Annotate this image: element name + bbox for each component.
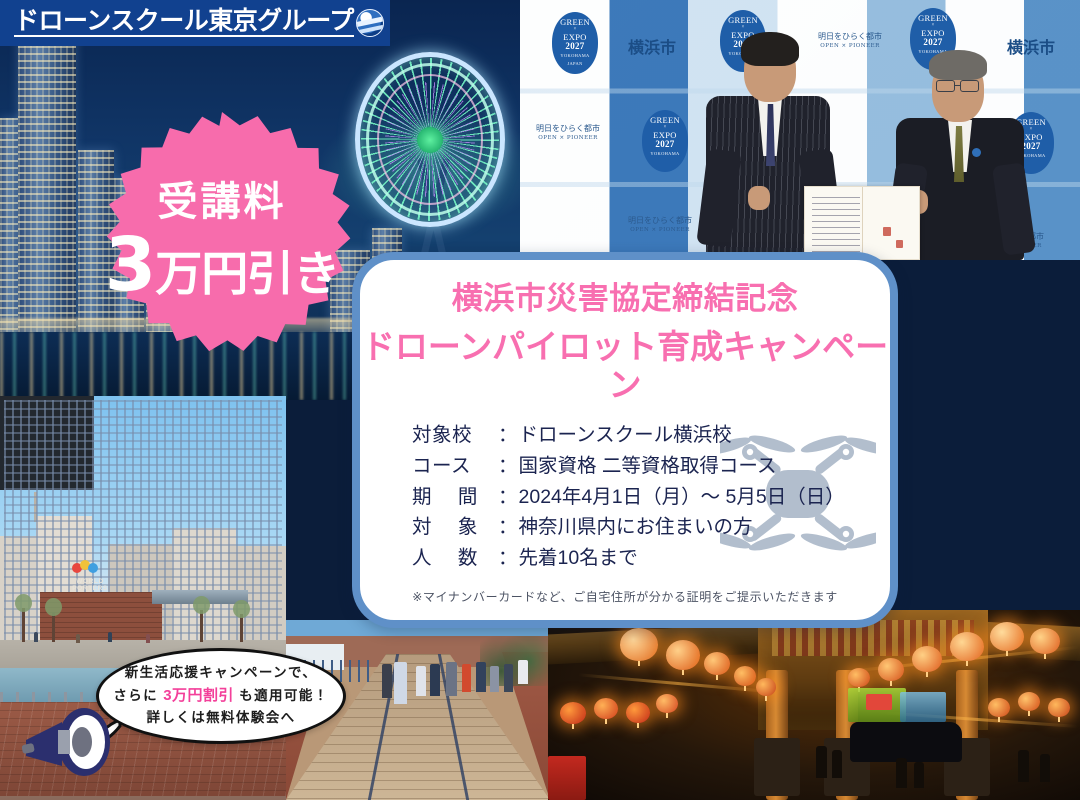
pedestrian	[146, 634, 150, 643]
photo-signing-ceremony: GREEN × EXPO 2027 YOKOHAMA JAPAN GREEN ×…	[520, 0, 1080, 260]
glasses-bridge	[954, 85, 961, 86]
red-banner	[548, 756, 586, 800]
world-porters-logo-icon	[72, 560, 102, 576]
hand	[748, 186, 770, 210]
bubble-discount-highlight: 3万円割引	[163, 687, 234, 704]
badge-content: 受講料 3 万円引き	[88, 112, 356, 370]
large-lantern	[620, 628, 658, 661]
pedestrian	[108, 632, 112, 642]
photo-yokohama-chinatown-night	[548, 610, 1080, 800]
discount-starburst-badge: 受講料 3 万円引き	[88, 112, 356, 370]
lapel-pin	[972, 148, 981, 157]
detail-row-period: 期 間 ： 2024年4月1日（月）～ 5月5日（日）	[412, 482, 890, 513]
pillar-base	[754, 738, 800, 796]
world-porters-glass-facade	[0, 396, 94, 490]
red-lantern	[1048, 698, 1070, 717]
red-seal-stamp	[896, 240, 903, 248]
hair	[741, 32, 799, 66]
backdrop-tagline: 明日をひらく都市 OPEN × PIONEER	[528, 124, 608, 142]
detail-separator: ：	[498, 420, 518, 451]
badge-label: 受講料	[158, 182, 287, 222]
brand-name: ドローンスクール東京グループ	[14, 9, 354, 37]
large-lantern	[666, 640, 700, 670]
bubble-line2-suffix: も適用可能！	[239, 688, 328, 703]
expo-sub1: YOKOHAMA	[552, 54, 598, 59]
backdrop-tagline: 明日をひらく都市 OPEN × PIONEER	[810, 32, 890, 50]
parasol	[518, 660, 528, 684]
red-lantern	[878, 658, 904, 681]
large-lantern	[1030, 628, 1060, 654]
street-tree	[52, 612, 55, 642]
pedestrian	[490, 666, 499, 692]
pedestrian	[1018, 750, 1029, 782]
large-lantern	[990, 622, 1024, 651]
card-footnote: ※マイナンバーカードなど、ご自宅住所が分かる証明をご提示いただきます	[360, 588, 890, 605]
red-lantern	[656, 694, 678, 713]
campaign-details-list: 対象校 ： ドローンスクール横浜校 コース ： 国家資格 二等資格取得コース 期…	[360, 420, 890, 574]
red-lantern	[560, 702, 586, 724]
glasses-lens	[960, 80, 979, 92]
street-tree	[22, 608, 25, 642]
backdrop-tagline: 明日をひらく都市 OPEN × PIONEER	[620, 216, 700, 234]
green-expo-logo: GREEN × EXPO 2027 YOKOHAMA JAPAN	[552, 12, 598, 74]
megaphone-icon	[22, 700, 130, 784]
red-lantern	[594, 698, 618, 719]
glasses-lens	[936, 80, 955, 92]
detail-row-capacity: 人 数 ： 先着10名まで	[412, 543, 890, 574]
detail-value: 2024年4月1日（月）～ 5月5日（日）	[519, 482, 845, 513]
detail-label: 期 間	[412, 482, 498, 513]
campaign-info-card: 横浜市災害協定締結記念 ドローンパイロット育成キャンペーン 対象校 ： ドローン…	[352, 252, 898, 628]
card-title-campaign: ドローンパイロット育成キャンペーン	[360, 328, 890, 404]
landmark-tower	[18, 32, 76, 332]
detail-row-course: コース ： 国家資格 二等資格取得コース	[412, 451, 890, 482]
pedestrian	[504, 664, 513, 692]
red-lantern	[1018, 692, 1040, 711]
cosmo-clock-ferris-wheel	[355, 52, 505, 227]
red-lantern	[626, 702, 650, 723]
card-title-commemoration: 横浜市災害協定締結記念	[360, 282, 890, 316]
red-lantern	[704, 652, 730, 675]
signed-agreement-document	[804, 186, 920, 260]
detail-value: 国家資格 二等資格取得コース	[519, 451, 777, 482]
card-heading-group: 横浜市災害協定締結記念 ドローンパイロット育成キャンペーン	[360, 260, 890, 404]
detail-separator: ：	[498, 451, 518, 482]
detail-row-eligibility: 対 象 ： 神奈川県内にお住まいの方	[412, 512, 890, 543]
pedestrian	[394, 662, 407, 704]
pedestrian	[430, 664, 440, 696]
detail-value: 先着10名まで	[519, 543, 638, 574]
expo-sub2: JAPAN	[552, 62, 598, 67]
pedestrian	[76, 634, 80, 643]
promo-speech-bubble: 新生活応援キャンペーンで、 さらに 3万円割引 も適用可能！ 詳しくは無料体験会…	[96, 648, 346, 744]
shop-banner	[866, 694, 892, 710]
expo-line1: GREEN	[560, 17, 590, 27]
green-expo-logo: GREEN × EXPO 2027 YOKOHAMA	[642, 110, 688, 172]
red-lantern	[756, 678, 776, 696]
hair	[929, 50, 987, 80]
parked-car	[850, 722, 962, 762]
pedestrian	[416, 666, 426, 696]
detail-row-target-school: 対象校 ： ドローンスクール横浜校	[412, 420, 890, 451]
brand-logo-bar[interactable]: ドローンスクール東京グループ	[0, 0, 390, 46]
pedestrian	[1040, 754, 1050, 782]
backdrop-city-name: 横浜市	[628, 34, 676, 58]
badge-amount: 3 万円引き	[105, 228, 340, 302]
pedestrian	[382, 664, 392, 698]
detail-value: ドローンスクール横浜校	[519, 420, 732, 451]
red-lantern	[988, 698, 1010, 717]
large-lantern	[912, 646, 942, 672]
pedestrian	[462, 664, 471, 692]
detail-label: 対 象	[412, 512, 498, 543]
large-lantern	[950, 632, 984, 661]
red-seal-stamp	[883, 227, 891, 236]
pedestrian	[832, 750, 842, 778]
pedestrian	[896, 758, 907, 788]
globe-drone-emblem-icon	[356, 9, 384, 37]
badge-number: 3	[105, 228, 156, 302]
expo-x: ×	[552, 27, 598, 32]
detail-separator: ：	[498, 482, 518, 513]
detail-separator: ：	[498, 512, 518, 543]
pedestrian	[914, 762, 924, 788]
bubble-line-3: 詳しくは無料体験会へ	[147, 708, 296, 729]
badge-unit: 万円引き	[155, 250, 339, 297]
shop-storefront-sign	[900, 692, 946, 722]
expo-year: 2027	[552, 42, 598, 52]
detail-separator: ：	[498, 543, 518, 574]
world-porters-sign-text: WORLD PORTERS	[62, 578, 118, 592]
pedestrian	[816, 746, 827, 778]
detail-value: 神奈川県内にお住まいの方	[519, 512, 753, 543]
detail-label: コース	[412, 451, 498, 482]
ferris-hub	[417, 127, 443, 153]
detail-label: 人 数	[412, 543, 498, 574]
backdrop-city-name: 横浜市	[1007, 34, 1055, 58]
bubble-line-1: 新生活応援キャンペーンで、	[125, 663, 318, 684]
pedestrian	[476, 662, 486, 692]
red-lantern	[734, 666, 756, 686]
red-lantern	[848, 668, 870, 687]
street-tree	[240, 614, 243, 642]
flyer-canvas: GREEN × EXPO 2027 YOKOHAMA JAPAN GREEN ×…	[0, 0, 1080, 800]
pedestrian	[34, 632, 38, 642]
street-tree	[200, 610, 203, 642]
bubble-line-2: さらに 3万円割引 も適用可能！	[113, 684, 328, 707]
detail-label: 対象校	[412, 420, 498, 451]
pedestrian	[446, 662, 457, 696]
